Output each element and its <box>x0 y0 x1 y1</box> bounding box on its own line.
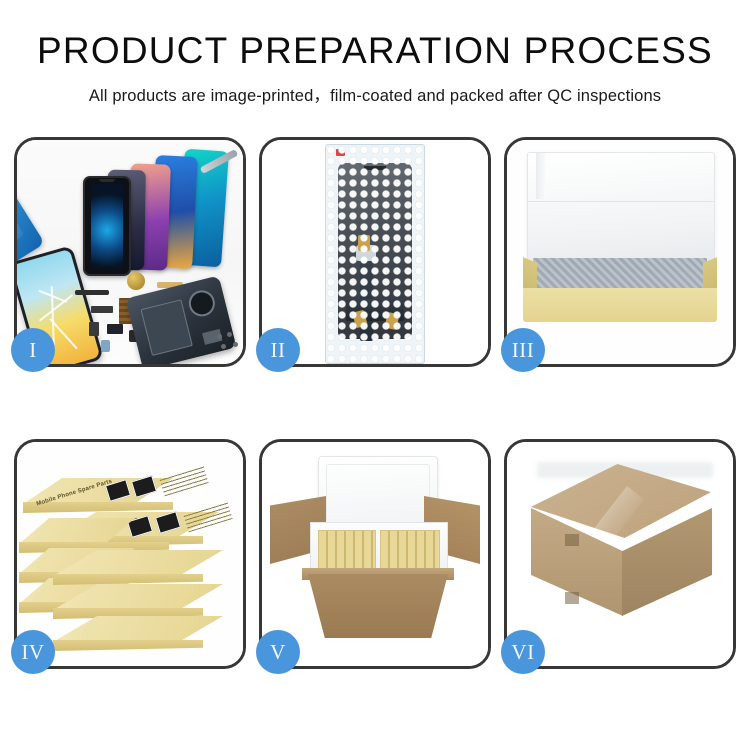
step-image-4: Mobile Phone Spare Parts Mobile Phone Sp… <box>17 442 243 666</box>
screws-group <box>215 332 241 354</box>
box-top-face <box>53 550 223 576</box>
bubble-wrap-bag <box>325 144 425 364</box>
step-panel-6[interactable]: VI <box>504 439 736 669</box>
foam-lid-icon <box>527 152 715 272</box>
step-image-1 <box>17 140 243 364</box>
carton-packing-photo <box>262 442 488 666</box>
box-top-face <box>53 584 223 610</box>
carton-seam <box>565 534 579 546</box>
box-front-face <box>523 288 717 322</box>
step-panel-1[interactable]: I <box>14 137 246 367</box>
carton-seam <box>565 592 579 604</box>
retail-box-plain <box>53 584 223 610</box>
screw-icon <box>227 332 232 337</box>
retail-box-plain <box>19 518 135 544</box>
header: PRODUCT PREPARATION PROCESS All products… <box>0 0 750 106</box>
small-part-icon <box>101 340 110 352</box>
phone-screen-fan <box>77 148 243 278</box>
phones-and-parts-photo <box>17 140 243 364</box>
small-part-icon <box>91 306 113 313</box>
bubble-wrapped-screen-photo <box>262 140 488 364</box>
gold-boxes-row <box>380 530 440 572</box>
camera-module-icon <box>186 288 218 320</box>
carton-body <box>308 574 448 638</box>
step-panel-3[interactable]: III <box>504 137 736 367</box>
step-badge-1: I <box>11 328 55 372</box>
screw-icon <box>233 342 238 347</box>
stacked-boxes-photo: Mobile Phone Spare Parts Mobile Phone Sp… <box>17 442 243 666</box>
product-preparation-infographic: PRODUCT PREPARATION PROCESS All products… <box>0 0 750 750</box>
battery-icon <box>141 299 193 356</box>
retail-box-plain <box>53 550 223 576</box>
step-image-5 <box>262 442 488 666</box>
sealed-carton-photo <box>507 442 733 666</box>
bubble-texture <box>326 145 424 363</box>
styrofoam-lid-icon <box>318 456 438 532</box>
gold-box-tray <box>523 258 717 322</box>
retail-box-plain <box>53 616 223 642</box>
box-front-face <box>53 640 203 651</box>
foam-lined-box-photo <box>507 140 733 364</box>
small-part-icon <box>89 322 99 336</box>
gold-boxes-row <box>318 530 376 572</box>
step-badge-3: III <box>501 328 545 372</box>
step-badge-5: V <box>256 630 300 674</box>
bubble-wrap-fill <box>533 258 707 292</box>
page-subtitle: All products are image-printed，film-coat… <box>0 82 750 106</box>
step-panel-2[interactable]: II <box>259 137 491 367</box>
screw-icon <box>217 334 222 339</box>
step-panel-4[interactable]: Mobile Phone Spare Parts Mobile Phone Sp… <box>14 439 246 669</box>
small-part-icon <box>107 324 123 334</box>
step-badge-4: IV <box>11 630 55 674</box>
box-spec-lines <box>159 466 208 497</box>
step-badge-6: VI <box>501 630 545 674</box>
box-top-face <box>19 518 135 544</box>
step-panel-5[interactable]: V <box>259 439 491 669</box>
steps-grid: I <box>14 137 736 669</box>
page-title: PRODUCT PREPARATION PROCESS <box>0 30 750 73</box>
antenna-strip-icon <box>75 290 109 295</box>
box-stack: Mobile Phone Spare Parts Mobile Phone Sp… <box>19 456 243 656</box>
speaker-part-icon <box>127 272 145 290</box>
screw-icon <box>221 344 226 349</box>
step-image-3 <box>507 140 733 364</box>
phone-screen-front <box>83 176 131 276</box>
step-image-6 <box>507 442 733 666</box>
box-top-face <box>53 616 223 642</box>
notch-icon <box>99 179 115 182</box>
wallpaper-glow <box>91 184 123 268</box>
step-badge-2: II <box>256 328 300 372</box>
step-image-2 <box>262 140 488 364</box>
